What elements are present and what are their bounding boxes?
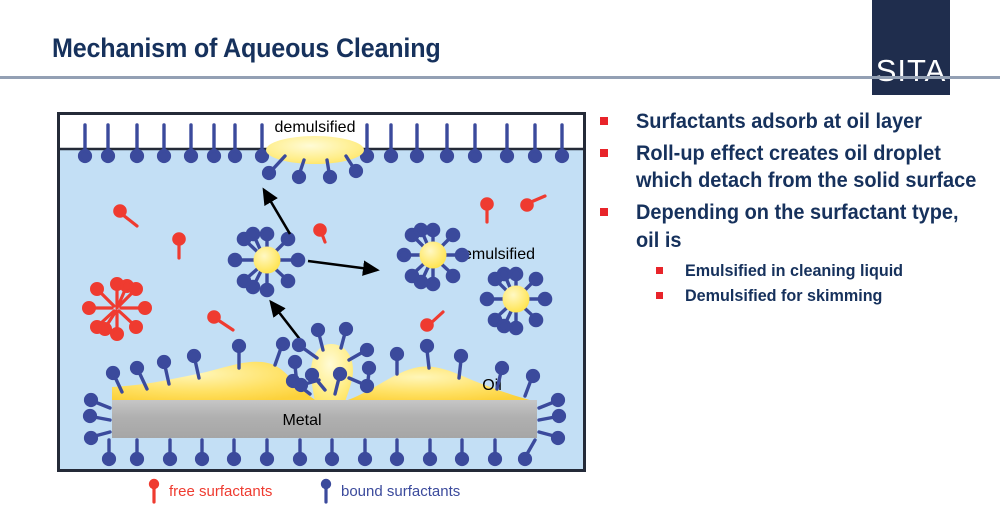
bullet-list: Surfactants adsorb at oil layer Roll-up … xyxy=(600,108,995,310)
header-divider xyxy=(0,76,1000,79)
bullet-text: Depending on the surfactant type, oil is xyxy=(636,199,977,254)
metal-label: Metal xyxy=(282,412,321,429)
legend-item-bound: bound surfactants xyxy=(319,478,460,504)
legend-item-free: free surfactants xyxy=(147,478,272,504)
emulsified-label: emulsified xyxy=(463,246,535,263)
micelle-center xyxy=(229,228,303,295)
bullet-marker-icon xyxy=(600,208,608,216)
demulsified-label: demulsified xyxy=(275,119,356,136)
legend-label-bound: bound surfactants xyxy=(341,483,460,500)
free-micelle xyxy=(84,279,151,340)
diagram-svg: demulsified emulsified xyxy=(57,112,586,472)
bullet-text: Emulsified in cleaning liquid xyxy=(685,259,903,284)
logo-text: SITA xyxy=(872,55,950,86)
micelle-right-upper xyxy=(398,224,467,289)
aqueous-cleaning-diagram: demulsified emulsified xyxy=(57,112,586,472)
micelle-right-lower xyxy=(481,268,550,333)
diagram-legend: free surfactants bound surfactants xyxy=(57,474,586,508)
bullet-item-3: Depending on the surfactant type, oil is xyxy=(600,199,995,254)
bullet-item-2: Roll-up effect creates oil droplet which… xyxy=(600,140,995,195)
bullet-marker-icon xyxy=(656,292,663,299)
bullet-text: Demulsified for skimming xyxy=(685,284,882,309)
bullet-marker-icon xyxy=(600,117,608,125)
bullet-text: Surfactants adsorb at oil layer xyxy=(636,108,922,136)
sita-logo: SITA xyxy=(872,0,950,95)
metal-bar xyxy=(112,400,537,438)
legend-label-free: free surfactants xyxy=(169,483,272,500)
bullet-marker-icon xyxy=(600,149,608,157)
bullet-item-3-1: Emulsified in cleaning liquid xyxy=(656,259,995,284)
bullet-item-3-2: Demulsified for skimming xyxy=(656,284,995,309)
bound-surfactant-icon xyxy=(319,478,333,504)
bullet-text: Roll-up effect creates oil droplet which… xyxy=(636,140,977,195)
slide-root: SITA Mechanism of Aqueous Cleaning Surfa… xyxy=(0,0,1000,509)
bullet-marker-icon xyxy=(656,267,663,274)
bullet-item-1: Surfactants adsorb at oil layer xyxy=(600,108,995,136)
free-surfactant-icon xyxy=(147,478,161,504)
page-title: Mechanism of Aqueous Cleaning xyxy=(52,33,441,64)
